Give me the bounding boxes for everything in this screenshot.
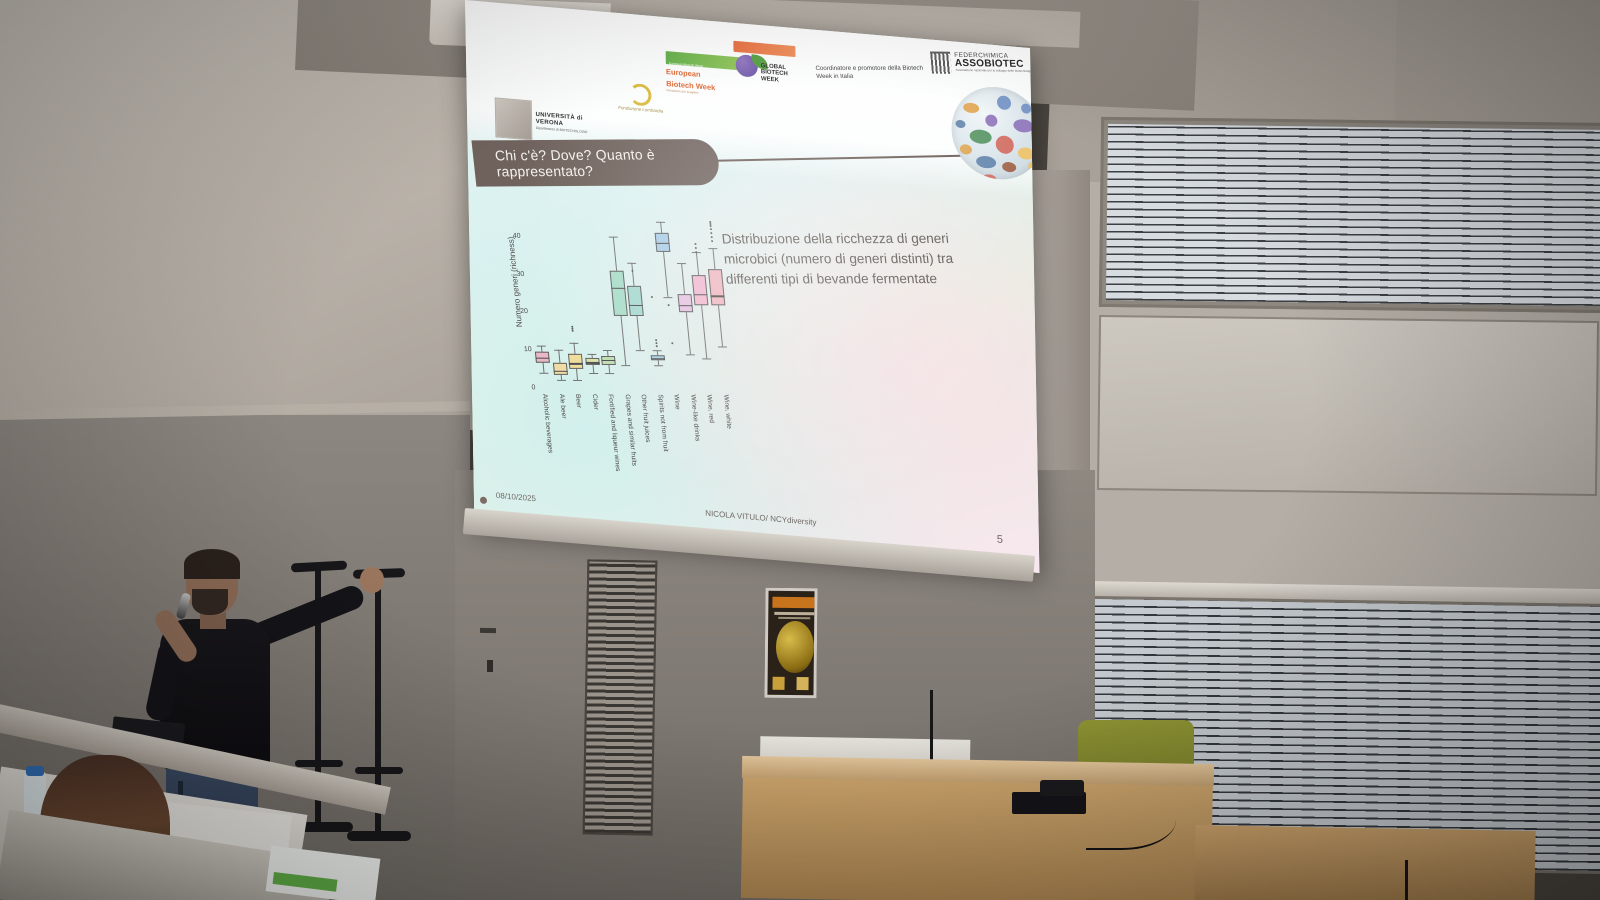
lombardia-logo: Fondazione Lombardia [614,79,667,117]
x-tick-label: Wine, red [705,395,715,423]
federchimica-mark-icon [930,51,952,73]
x-tick-label: Cider [591,394,600,410]
university-photo [495,97,532,140]
lecture-hall-scene: UNIVERSITÀ di VERONA Dipartimento di BIO… [0,0,1600,900]
wall-poster [764,588,817,699]
projection-screen: UNIVERSITÀ di VERONA Dipartimento di BIO… [465,0,1035,545]
x-tick-label: Spirits not from fruit [656,394,669,451]
footer-date: 08/10/2025 [496,491,536,503]
whiteboard-panel [1097,315,1599,496]
x-tick-label: Grapes and similar fruits [623,394,637,466]
x-tick-label: Wine-like drinks [689,394,701,441]
presenter-right-hand [360,567,384,593]
door-handle[interactable] [480,628,496,633]
x-tick-label: Ale beer [558,394,567,419]
footer-page-number: 5 [997,533,1003,546]
boxplot-chart: Numero generi (richness) 010203040 Alcoh… [493,217,747,474]
lombardia-ring-icon [629,83,651,107]
presenter-hair [184,549,240,579]
y-tick-label: 20 [520,308,528,315]
y-tick-label: 40 [512,233,520,240]
door-lock[interactable] [487,660,493,672]
handheld-microphone [176,592,192,619]
y-tick-label: 0 [531,384,536,391]
y-tick-label: 10 [524,346,532,353]
water-bottle-cap [26,766,44,776]
x-tick-label: Wine, white [722,395,732,429]
global-biotech-week-logo: Global Biotech Week GLOBAL BIOTECH WEEK [733,41,796,92]
lectern-desk-extension [1194,825,1535,900]
microphone-stand-2 [1405,860,1408,900]
presenter-beard [192,589,228,615]
assobiotec-tagline: Associazione nazionale per lo sviluppo d… [955,69,1032,74]
x-tick-label: Fortified and liqueur wines [607,394,622,471]
boxplot-plot-area: Alcoholic beveragesAle beerBeerCiderFort… [521,217,735,389]
coordinator-note: Coordinatore e promotore della Biotech W… [815,65,936,81]
y-tick-label: 30 [516,270,524,277]
x-tick-label: Alcoholic beverages [541,394,554,453]
slide-surface: UNIVERSITÀ di VERONA Dipartimento di BIO… [465,0,1039,573]
federchimica-assobiotec-logo: FEDERCHIMICA ASSOBIOTEC Associazione naz… [930,51,1039,91]
x-tick-label: Wine [673,394,681,409]
wall-air-vent [583,559,658,835]
slide-description: Distribuzione della ricchezza di generi … [721,229,994,290]
window-blind-upper[interactable] [1099,117,1600,313]
footer-author: NICOLA VITULO/ NCYdiversity [705,509,816,527]
slide-title-banner: Chi c'è? Dove? Quanto è rappresentato? [471,139,721,187]
footer-bullet-icon [480,497,487,505]
gbw-title-block: GLOBAL BIOTECH WEEK [761,63,788,85]
x-tick-label: Beer [574,394,582,408]
european-biotech-week-logo: European Biotech Week European Biotech W… [666,51,743,99]
lombardia-label: Fondazione Lombardia [618,105,663,114]
x-tick-label: Other fruit juices [640,394,652,442]
audio-mixer[interactable] [1040,780,1084,796]
slide-title: Chi c'è? Dove? Quanto è rappresentato? [494,146,720,179]
